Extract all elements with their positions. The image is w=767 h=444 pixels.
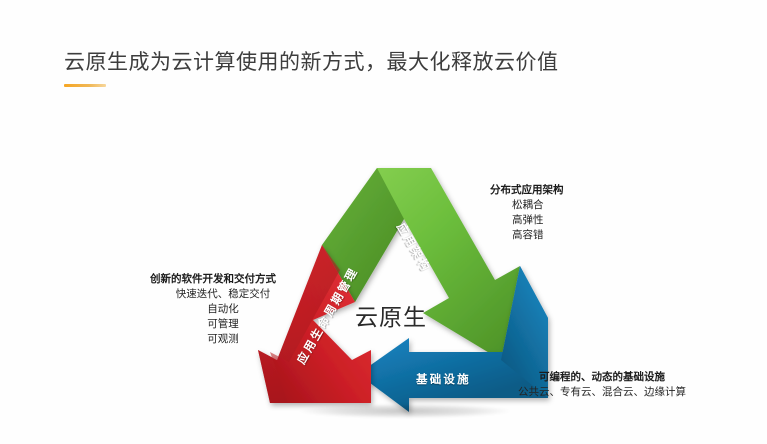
- annotation-infrastructure-title: 可编程的、动态的基础设施: [518, 370, 686, 385]
- annotation-architecture-item: 高容错: [512, 228, 564, 243]
- annotation-lifecycle-list: 快速迭代、稳定交付 自动化 可管理 可观测: [150, 287, 296, 347]
- annotation-lifecycle-item: 可观测: [150, 332, 296, 347]
- annotation-lifecycle-title: 创新的软件开发和交付方式: [150, 272, 296, 287]
- annotation-infrastructure: 可编程的、动态的基础设施 公共云、专有云、混合云、边缘计算: [518, 370, 686, 400]
- page-title: 云原生成为云计算使用的新方式，最大化释放云价值: [64, 48, 704, 78]
- annotation-lifecycle: 创新的软件开发和交付方式 快速迭代、稳定交付 自动化 可管理 可观测: [150, 272, 296, 347]
- graphic-ground-shadow: [300, 404, 510, 418]
- slide-canvas: 云原生成为云计算使用的新方式，最大化释放云价值: [0, 0, 767, 444]
- annotation-lifecycle-item: 可管理: [150, 317, 296, 332]
- annotation-lifecycle-item: 快速迭代、稳定交付: [150, 287, 296, 302]
- diagram-center-label: 云原生: [355, 298, 427, 332]
- annotation-architecture-list: 松耦合 高弹性 高容错: [490, 198, 564, 243]
- title-accent-underline: [64, 84, 106, 87]
- title-block: 云原生成为云计算使用的新方式，最大化释放云价值: [64, 48, 704, 87]
- annotation-infrastructure-list: 公共云、专有云、混合云、边缘计算: [518, 385, 686, 400]
- annotation-architecture-item: 高弹性: [512, 213, 564, 228]
- annotation-architecture: 分布式应用架构 松耦合 高弹性 高容错: [490, 183, 564, 243]
- annotation-architecture-item: 松耦合: [512, 198, 564, 213]
- annotation-infrastructure-item: 公共云、专有云、混合云、边缘计算: [518, 385, 686, 400]
- annotation-lifecycle-item: 自动化: [150, 302, 296, 317]
- annotation-architecture-title: 分布式应用架构: [490, 183, 564, 198]
